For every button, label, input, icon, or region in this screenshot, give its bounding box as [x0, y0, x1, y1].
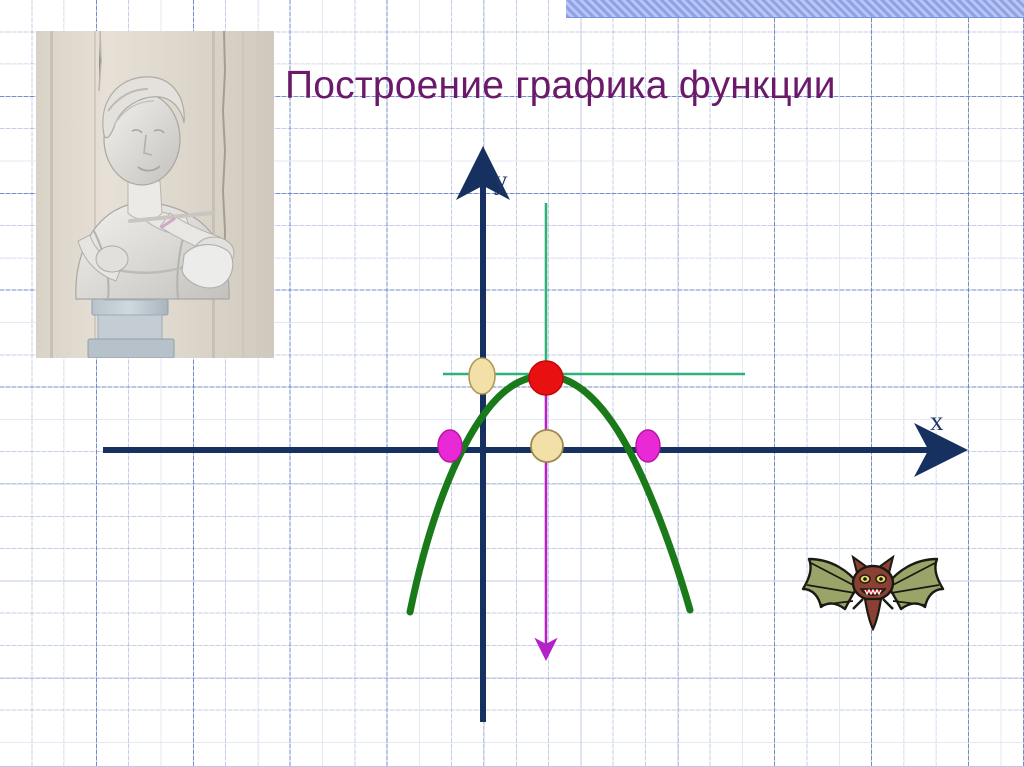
decorative-banner [566, 0, 1024, 18]
slide-canvas: Построение графика функции [0, 0, 1024, 767]
bat-image [795, 549, 950, 631]
page-title: Построение графика функции [285, 64, 945, 108]
statue-image [36, 31, 274, 358]
